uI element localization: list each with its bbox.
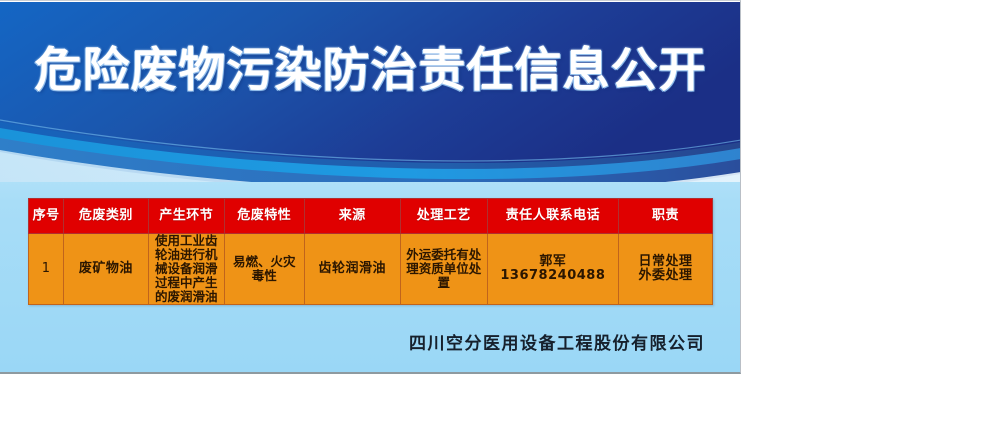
col-header-contact: 责任人联系电话 — [487, 199, 618, 234]
col-header-source: 来源 — [304, 199, 400, 234]
contact-name: 郭军 — [490, 255, 616, 269]
page-title: 危险废物污染防治责任信息公开 — [0, 47, 741, 94]
col-header-seq: 序号 — [29, 199, 64, 234]
table-header-row: 序号 危废类别 产生环节 危废特性 来源 处理工艺 责任人联系电话 职责 — [29, 199, 713, 234]
cell-duty: 日常处理 外委处理 — [619, 234, 713, 305]
duty-line-2: 外委处理 — [621, 269, 710, 283]
col-header-duty: 职责 — [619, 199, 713, 234]
duty-line-1: 日常处理 — [621, 255, 710, 269]
col-header-properties: 危废特性 — [224, 199, 304, 234]
cell-properties: 易燃、火灾毒性 — [224, 234, 304, 305]
cell-contact: 郭军 13678240488 — [487, 234, 618, 305]
cell-process: 外运委托有处理资质单位处置 — [400, 234, 487, 305]
hazardous-waste-info-poster: 危险废物污染防治责任信息公开 序号 危废类别 产生环节 危废特性 来源 处理工艺… — [0, 0, 741, 374]
hazardous-waste-table: 序号 危废类别 产生环节 危废特性 来源 处理工艺 责任人联系电话 职责 1 废… — [28, 198, 713, 305]
cell-category: 废矿物油 — [64, 234, 148, 305]
cell-source: 齿轮润滑油 — [304, 234, 400, 305]
col-header-process: 处理工艺 — [400, 199, 487, 234]
col-header-category: 危废类别 — [64, 199, 148, 234]
cell-stage: 使用工业齿轮油进行机械设备润滑过程中产生的废润滑油 — [148, 234, 224, 305]
cell-seq: 1 — [29, 234, 64, 305]
col-header-stage: 产生环节 — [148, 199, 224, 234]
contact-phone: 13678240488 — [490, 269, 616, 283]
table-row: 1 废矿物油 使用工业齿轮油进行机械设备润滑过程中产生的废润滑油 易燃、火灾毒性… — [29, 234, 713, 305]
company-name: 四川空分医用设备工程股份有限公司 — [28, 329, 713, 354]
